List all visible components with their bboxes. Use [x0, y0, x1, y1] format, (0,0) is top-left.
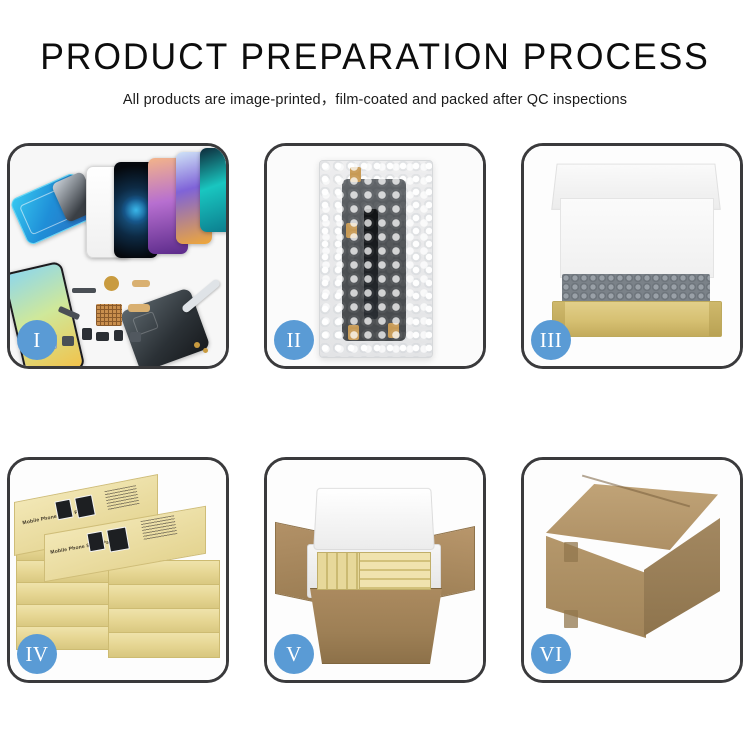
page-header: PRODUCT PREPARATION PROCESS All products… — [0, 0, 750, 109]
panel-6-badge: VI — [531, 634, 571, 674]
box-photo-thumb-icon — [74, 494, 96, 518]
process-panel-1: I — [7, 143, 229, 369]
panel-1-badge: I — [17, 320, 57, 360]
speaker-part-icon — [72, 288, 96, 293]
gold-tab-2-icon — [346, 223, 357, 238]
box-photo-thumb-icon — [54, 499, 73, 521]
flex-cable-2-icon — [128, 304, 150, 312]
page-subtitle: All products are image-printed，film-coat… — [0, 88, 750, 109]
box-photo-thumb-icon — [106, 526, 130, 552]
process-panel-6: VI — [521, 457, 743, 683]
process-panel-grid: I II — [0, 143, 750, 683]
kraft-box-stack-item — [108, 608, 220, 634]
kraft-box-stack-item — [108, 584, 220, 610]
carton-front-face-icon — [301, 588, 451, 664]
process-panel-3: III — [521, 143, 743, 369]
process-panel-4: Mobile Phone Spare Parts Mobile Phone Sp… — [7, 457, 229, 683]
inner-kraft-boxes-2-icon — [359, 552, 431, 590]
kraft-box-stack-item — [16, 604, 110, 628]
screw-2-icon — [203, 348, 208, 353]
gold-tab-4-icon — [388, 323, 399, 338]
box-photo-thumb-icon — [86, 531, 105, 552]
panel-5-badge: V — [274, 634, 314, 674]
styrofoam-lid-icon — [313, 488, 435, 550]
coil-part-icon — [104, 276, 119, 291]
panel-3-badge: III — [531, 320, 571, 360]
ic-chip-3-icon — [114, 330, 123, 341]
gold-tab-icon — [350, 167, 361, 182]
screw-icon — [194, 342, 200, 348]
camera-module-icon — [62, 336, 74, 346]
process-panel-5: V — [264, 457, 486, 683]
wrapped-flex-cable-icon — [364, 209, 378, 319]
kraft-box-stack-item — [108, 632, 220, 658]
vibrator-icon — [130, 332, 141, 342]
white-foam-sheet-icon — [560, 198, 714, 278]
page-title: PRODUCT PREPARATION PROCESS — [15, 38, 735, 77]
process-panel-2: II — [264, 143, 486, 369]
bubble-wrap-bag — [319, 160, 433, 358]
gold-tab-3-icon — [348, 325, 359, 340]
panel-4-badge: IV — [17, 634, 57, 674]
ic-chip-2-icon — [96, 332, 109, 341]
ic-chip-icon — [82, 328, 92, 340]
flex-cable-icon — [132, 280, 150, 287]
carton-tape-2-icon — [564, 610, 578, 628]
carton-tape-icon — [564, 542, 578, 562]
kraft-tray-icon — [552, 301, 722, 337]
chip-grid-icon — [96, 304, 122, 326]
bubble-wrapped-contents-icon — [562, 274, 710, 304]
kraft-box-stack-item — [16, 582, 110, 606]
panel-2-badge: II — [274, 320, 314, 360]
teal-display-icon — [200, 148, 226, 232]
